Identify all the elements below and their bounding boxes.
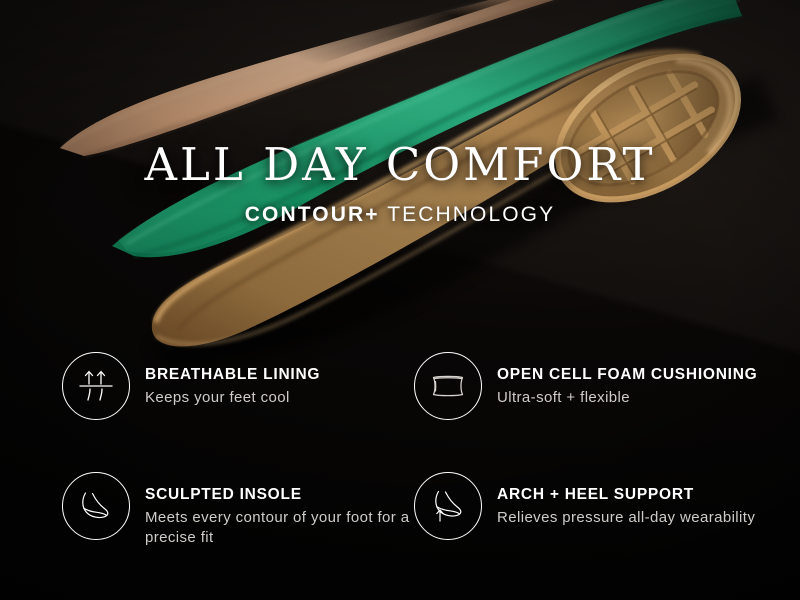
foot-profile-icon <box>62 472 130 540</box>
hero-subtitle: CONTOUR+ TECHNOLOGY <box>0 203 800 227</box>
airflow-lining-icon <box>62 352 130 420</box>
feature-text: SCULPTED INSOLE Meets every contour of y… <box>145 472 414 549</box>
feature-item: OPEN CELL FOAM CUSHIONING Ultra-soft + f… <box>414 352 762 472</box>
hero-subtitle-brand: CONTOUR+ <box>245 203 380 226</box>
hero-subtitle-rest: TECHNOLOGY <box>387 203 555 226</box>
marketing-hero-banner: ALL DAY COMFORT CONTOUR+ TECHNOLOGY <box>0 0 800 600</box>
feature-text: ARCH + HEEL SUPPORT Relieves pressure al… <box>497 472 755 528</box>
feature-description: Meets every contour of your foot for a p… <box>145 508 414 549</box>
feature-description: Relieves pressure all-day wearability <box>497 508 755 529</box>
page-title: ALL DAY COMFORT <box>0 142 800 187</box>
feature-title: ARCH + HEEL SUPPORT <box>497 485 755 505</box>
feature-title: BREATHABLE LINING <box>145 365 320 385</box>
feature-grid: BREATHABLE LINING Keeps your feet cool O… <box>62 352 762 592</box>
feature-title: SCULPTED INSOLE <box>145 485 414 505</box>
feature-text: BREATHABLE LINING Keeps your feet cool <box>145 352 320 408</box>
feature-item: SCULPTED INSOLE Meets every contour of y… <box>62 472 414 592</box>
hero-text-block: ALL DAY COMFORT CONTOUR+ TECHNOLOGY <box>0 142 800 227</box>
feature-title: OPEN CELL FOAM CUSHIONING <box>497 365 757 385</box>
feature-description: Ultra-soft + flexible <box>497 388 757 409</box>
feature-item: ARCH + HEEL SUPPORT Relieves pressure al… <box>414 472 762 592</box>
feature-item: BREATHABLE LINING Keeps your feet cool <box>62 352 414 472</box>
foot-arch-support-icon <box>414 472 482 540</box>
foam-cushion-icon <box>414 352 482 420</box>
feature-description: Keeps your feet cool <box>145 388 320 409</box>
feature-text: OPEN CELL FOAM CUSHIONING Ultra-soft + f… <box>497 352 757 408</box>
